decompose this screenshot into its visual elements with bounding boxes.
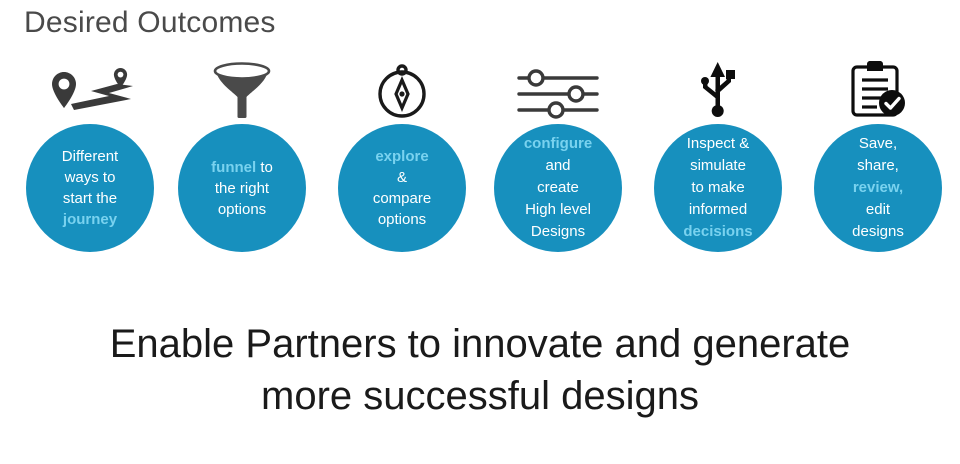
circle-line-highlight: funnel to [211,157,273,178]
outcome-circle-2[interactable]: funnel to the right options [178,124,306,252]
outcome-card-2[interactable]: funnel to the right options [162,58,322,278]
circle-line-highlight: journey [63,209,117,230]
outcome-circle-3[interactable]: explore & compare options [338,124,466,252]
outcomes-row: Different ways to start the journey funn… [0,58,960,278]
usb-icon [638,58,798,120]
circle-line: options [378,209,426,230]
page-title: Desired Outcomes [24,6,276,40]
circle-line: High level [525,199,591,221]
outcome-card-3[interactable]: explore & compare options [322,58,482,278]
outcome-circle-1[interactable]: Different ways to start the journey [26,124,154,252]
circle-line: informed [689,199,747,221]
circle-line: edit [866,199,890,221]
compass-icon [322,58,482,120]
circle-line: options [218,199,266,220]
circle-line: start the [63,188,117,209]
map-route-icon [10,58,170,120]
circle-line-highlight: explore [375,146,428,167]
footer-line-1: Enable Partners to innovate and generate [0,318,960,370]
circle-line: share, [857,155,899,177]
funnel-icon [162,58,322,120]
circle-line-highlight: review, [853,177,903,199]
circle-line-highlight: decisions [683,221,752,243]
circle-line: compare [373,188,431,209]
circle-line: Save, [859,133,897,155]
circle-line: and [545,155,570,177]
outcome-circle-6[interactable]: Save, share, review, edit designs [814,124,942,252]
outcome-circle-4[interactable]: configure and create High level Designs [494,124,622,252]
circle-line: Different [62,146,118,167]
circle-line: designs [852,221,904,243]
circle-line: the right [215,178,269,199]
circle-line: Inspect & [687,133,750,155]
footer-statement: Enable Partners to innovate and generate… [0,318,960,422]
outcome-card-1[interactable]: Different ways to start the journey [10,58,170,278]
outcome-card-5[interactable]: Inspect & simulate to make informed deci… [638,58,798,278]
outcome-card-4[interactable]: configure and create High level Designs [478,58,638,278]
outcome-card-6[interactable]: Save, share, review, edit designs [798,58,958,278]
outcome-circle-5[interactable]: Inspect & simulate to make informed deci… [654,124,782,252]
footer-line-2: more successful designs [0,370,960,422]
circle-line: & [397,167,407,188]
circle-line: create [537,177,579,199]
circle-line-highlight: configure [524,133,592,155]
circle-line: to make [691,177,744,199]
circle-line: Designs [531,221,585,243]
circle-line: ways to [65,167,116,188]
sliders-icon [478,58,638,120]
circle-line: simulate [690,155,746,177]
clipboard-check-icon [798,58,958,120]
